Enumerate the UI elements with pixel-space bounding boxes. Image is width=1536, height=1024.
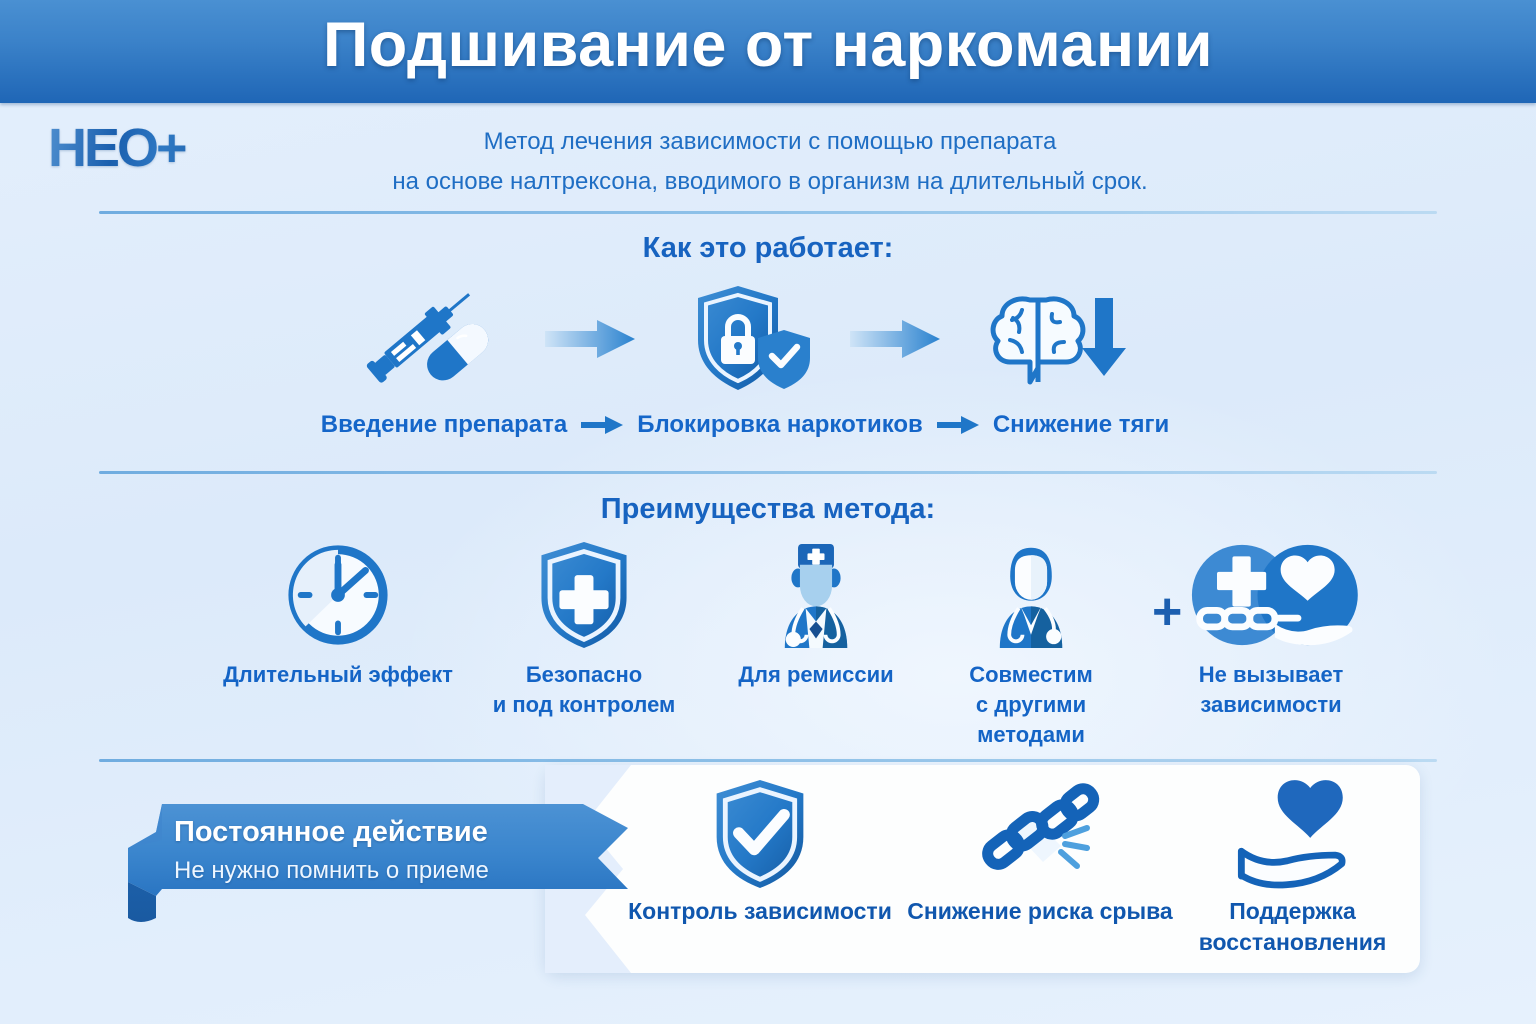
how-step-label-1: Блокировка наркотиков [637, 411, 923, 439]
bottom-card-label: Контроль зависимости [615, 896, 905, 927]
bottom-card-label: Поддержка восстановления [1185, 896, 1400, 958]
divider-2 [99, 471, 1437, 474]
shield-lock-icon [680, 282, 830, 394]
advantage-label: Безопасно и под контролем [464, 660, 704, 720]
how-it-works-heading: Как это работает: [0, 232, 1536, 265]
advantage-label: Длительный эффект [218, 660, 458, 690]
page-title: Подшивание от наркомании [0, 9, 1536, 81]
arrow-right-icon [545, 320, 635, 358]
intro-description: Метод лечения зависимости с помощью преп… [260, 122, 1280, 202]
advantage-label-line-1: Безопасно [464, 660, 704, 690]
divider-1 [99, 211, 1437, 214]
ribbon-subtitle: Не нужно помнить о приеме [174, 857, 489, 885]
advantage-label-line-1: Совместим [926, 660, 1136, 690]
advantage-label-line-2: с другими [926, 690, 1136, 720]
advantage-label: Не вызывает зависимости [1136, 660, 1406, 720]
plus-symbol: + [1152, 586, 1182, 638]
doctor-icon [711, 540, 921, 650]
advantages-heading: Преимущества метода: [0, 493, 1536, 526]
advantage-label-line-2: зависимости [1136, 690, 1406, 720]
brand-logo: НЕО+ [48, 117, 238, 179]
bottom-card-item: Поддержка восстановления [1185, 778, 1400, 958]
advantages-row: Длительный эффект Безопасно и [96, 540, 1440, 740]
divider-3 [99, 759, 1437, 762]
how-it-works-icon-row [330, 282, 1190, 394]
advantage-label: Совместим с другими методами [926, 660, 1136, 750]
intro-line-2: на основе налтрексона, вводимого в орган… [260, 162, 1280, 202]
brain-down-arrow-icon [980, 282, 1130, 394]
intro-line-1: Метод лечения зависимости с помощью преп… [260, 122, 1280, 162]
bottom-cards-row: Контроль зависимости [565, 778, 1405, 963]
advantage-item: Совместим с другими методами [926, 540, 1136, 750]
advantage-label-line-2: и под контролем [464, 690, 704, 720]
medic-person-icon [926, 540, 1136, 650]
shield-check-icon [615, 778, 905, 890]
bottom-card-item: Снижение риска срыва [905, 778, 1175, 927]
advantage-label-line-1: Не вызывает [1136, 660, 1406, 690]
infographic-poster: Подшивание от наркомании НЕО+ Метод лече… [0, 0, 1536, 1024]
arrow-right-icon [937, 415, 979, 435]
bottom-card-label-line-2: восстановления [1185, 927, 1400, 958]
arrow-right-icon [850, 320, 940, 358]
syringe-pill-icon [342, 282, 492, 394]
advantage-item: Длительный эффект [218, 540, 458, 690]
bottom-card-label-line-1: Поддержка [1185, 896, 1400, 927]
header-bar: Подшивание от наркомании [0, 0, 1536, 103]
advantage-item: Для ремиссии [711, 540, 921, 690]
how-step-label-2: Снижение тяги [993, 411, 1169, 439]
arrow-right-icon [581, 415, 623, 435]
bottom-card-label: Снижение риска срыва [905, 896, 1175, 927]
how-it-works-label-row: Введение препарата Блокировка наркотиков… [330, 408, 1160, 442]
shield-cross-icon [464, 540, 704, 650]
advantage-label-line-3: методами [926, 720, 1136, 750]
advantage-label: Для ремиссии [711, 660, 921, 690]
advantage-item: Безопасно и под контролем [464, 540, 704, 720]
bottom-card-item: Контроль зависимости [615, 778, 905, 927]
broken-chain-icon [905, 778, 1175, 890]
ribbon-title: Постоянное действие [174, 816, 488, 849]
clock-icon [218, 540, 458, 650]
how-step-label-0: Введение препарата [321, 411, 567, 439]
hand-heart-icon [1185, 778, 1400, 890]
